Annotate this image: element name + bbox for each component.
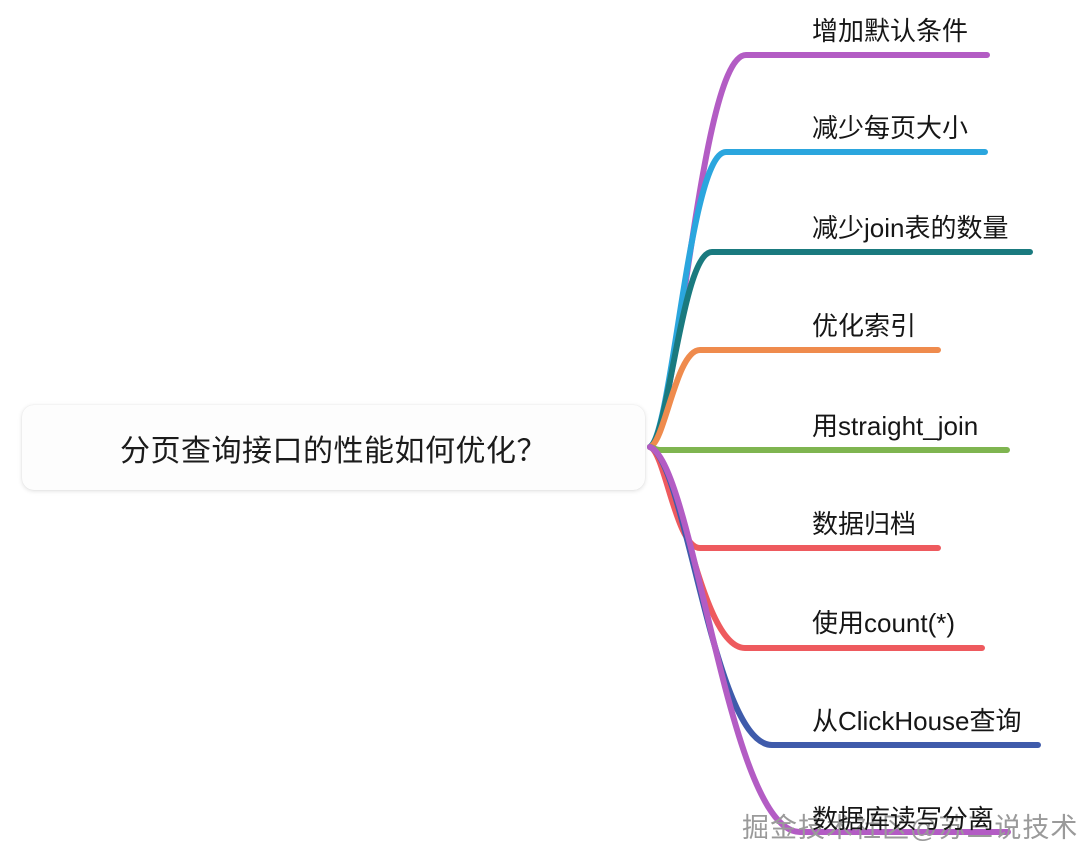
root-node-label: 分页查询接口的性能如何优化？ xyxy=(120,426,547,470)
branch-node-1[interactable]: 增加默认条件 xyxy=(812,18,968,44)
branch-connector xyxy=(650,447,1008,832)
branch-node-4[interactable]: 优化索引 xyxy=(812,313,916,339)
branch-node-5[interactable]: 用straight_join xyxy=(812,413,978,439)
branch-node-6[interactable]: 数据归档 xyxy=(812,511,916,537)
root-node[interactable]: 分页查询接口的性能如何优化？ xyxy=(22,405,645,490)
branch-node-9[interactable]: 数据库读写分离 xyxy=(812,806,994,832)
branch-node-8[interactable]: 从ClickHouse查询 xyxy=(812,708,1022,734)
branch-node-2[interactable]: 减少每页大小 xyxy=(812,115,968,141)
branch-node-7[interactable]: 使用count(*) xyxy=(812,610,955,636)
branch-node-3[interactable]: 减少join表的数量 xyxy=(812,215,1008,241)
branch-connector xyxy=(650,152,985,447)
mindmap-canvas: 分页查询接口的性能如何优化？ 增加默认条件减少每页大小减少join表的数量优化索… xyxy=(0,0,1080,860)
branch-connector xyxy=(650,447,1007,450)
